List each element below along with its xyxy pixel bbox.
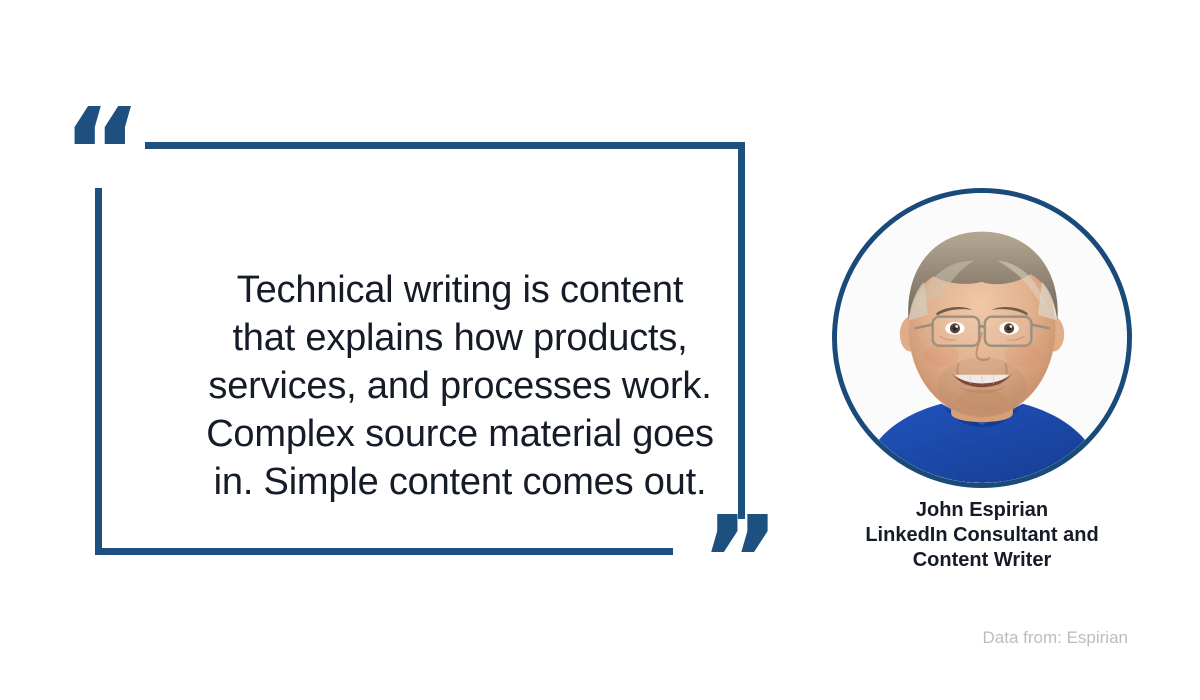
avatar-ring (832, 188, 1132, 488)
opening-quote-icon: “ (62, 92, 142, 214)
source-note: Data from: Espirian (983, 628, 1129, 648)
quote-line: Technical writing is content (150, 266, 770, 314)
quote-line: that explains how products, (150, 314, 770, 362)
quote-border-bottom (95, 548, 673, 555)
quote-border-top (145, 142, 745, 149)
avatar-photo (837, 193, 1127, 483)
avatar (832, 188, 1132, 488)
attribution-title: Content Writer (812, 548, 1152, 573)
quote-line: Complex source material goes (150, 410, 770, 458)
quote-line: services, and processes work. (150, 362, 770, 410)
attribution: John Espirian LinkedIn Consultant and Co… (812, 498, 1152, 573)
quote-line: in. Simple content comes out. (150, 458, 770, 506)
attribution-title: LinkedIn Consultant and (812, 523, 1152, 548)
closing-quote-icon: ” (700, 500, 780, 622)
slide-canvas: “ ” Technical writing is content that ex… (0, 0, 1200, 700)
quote-text: Technical writing is content that explai… (150, 266, 770, 506)
attribution-name: John Espirian (812, 498, 1152, 523)
quote-border-left (95, 188, 102, 555)
